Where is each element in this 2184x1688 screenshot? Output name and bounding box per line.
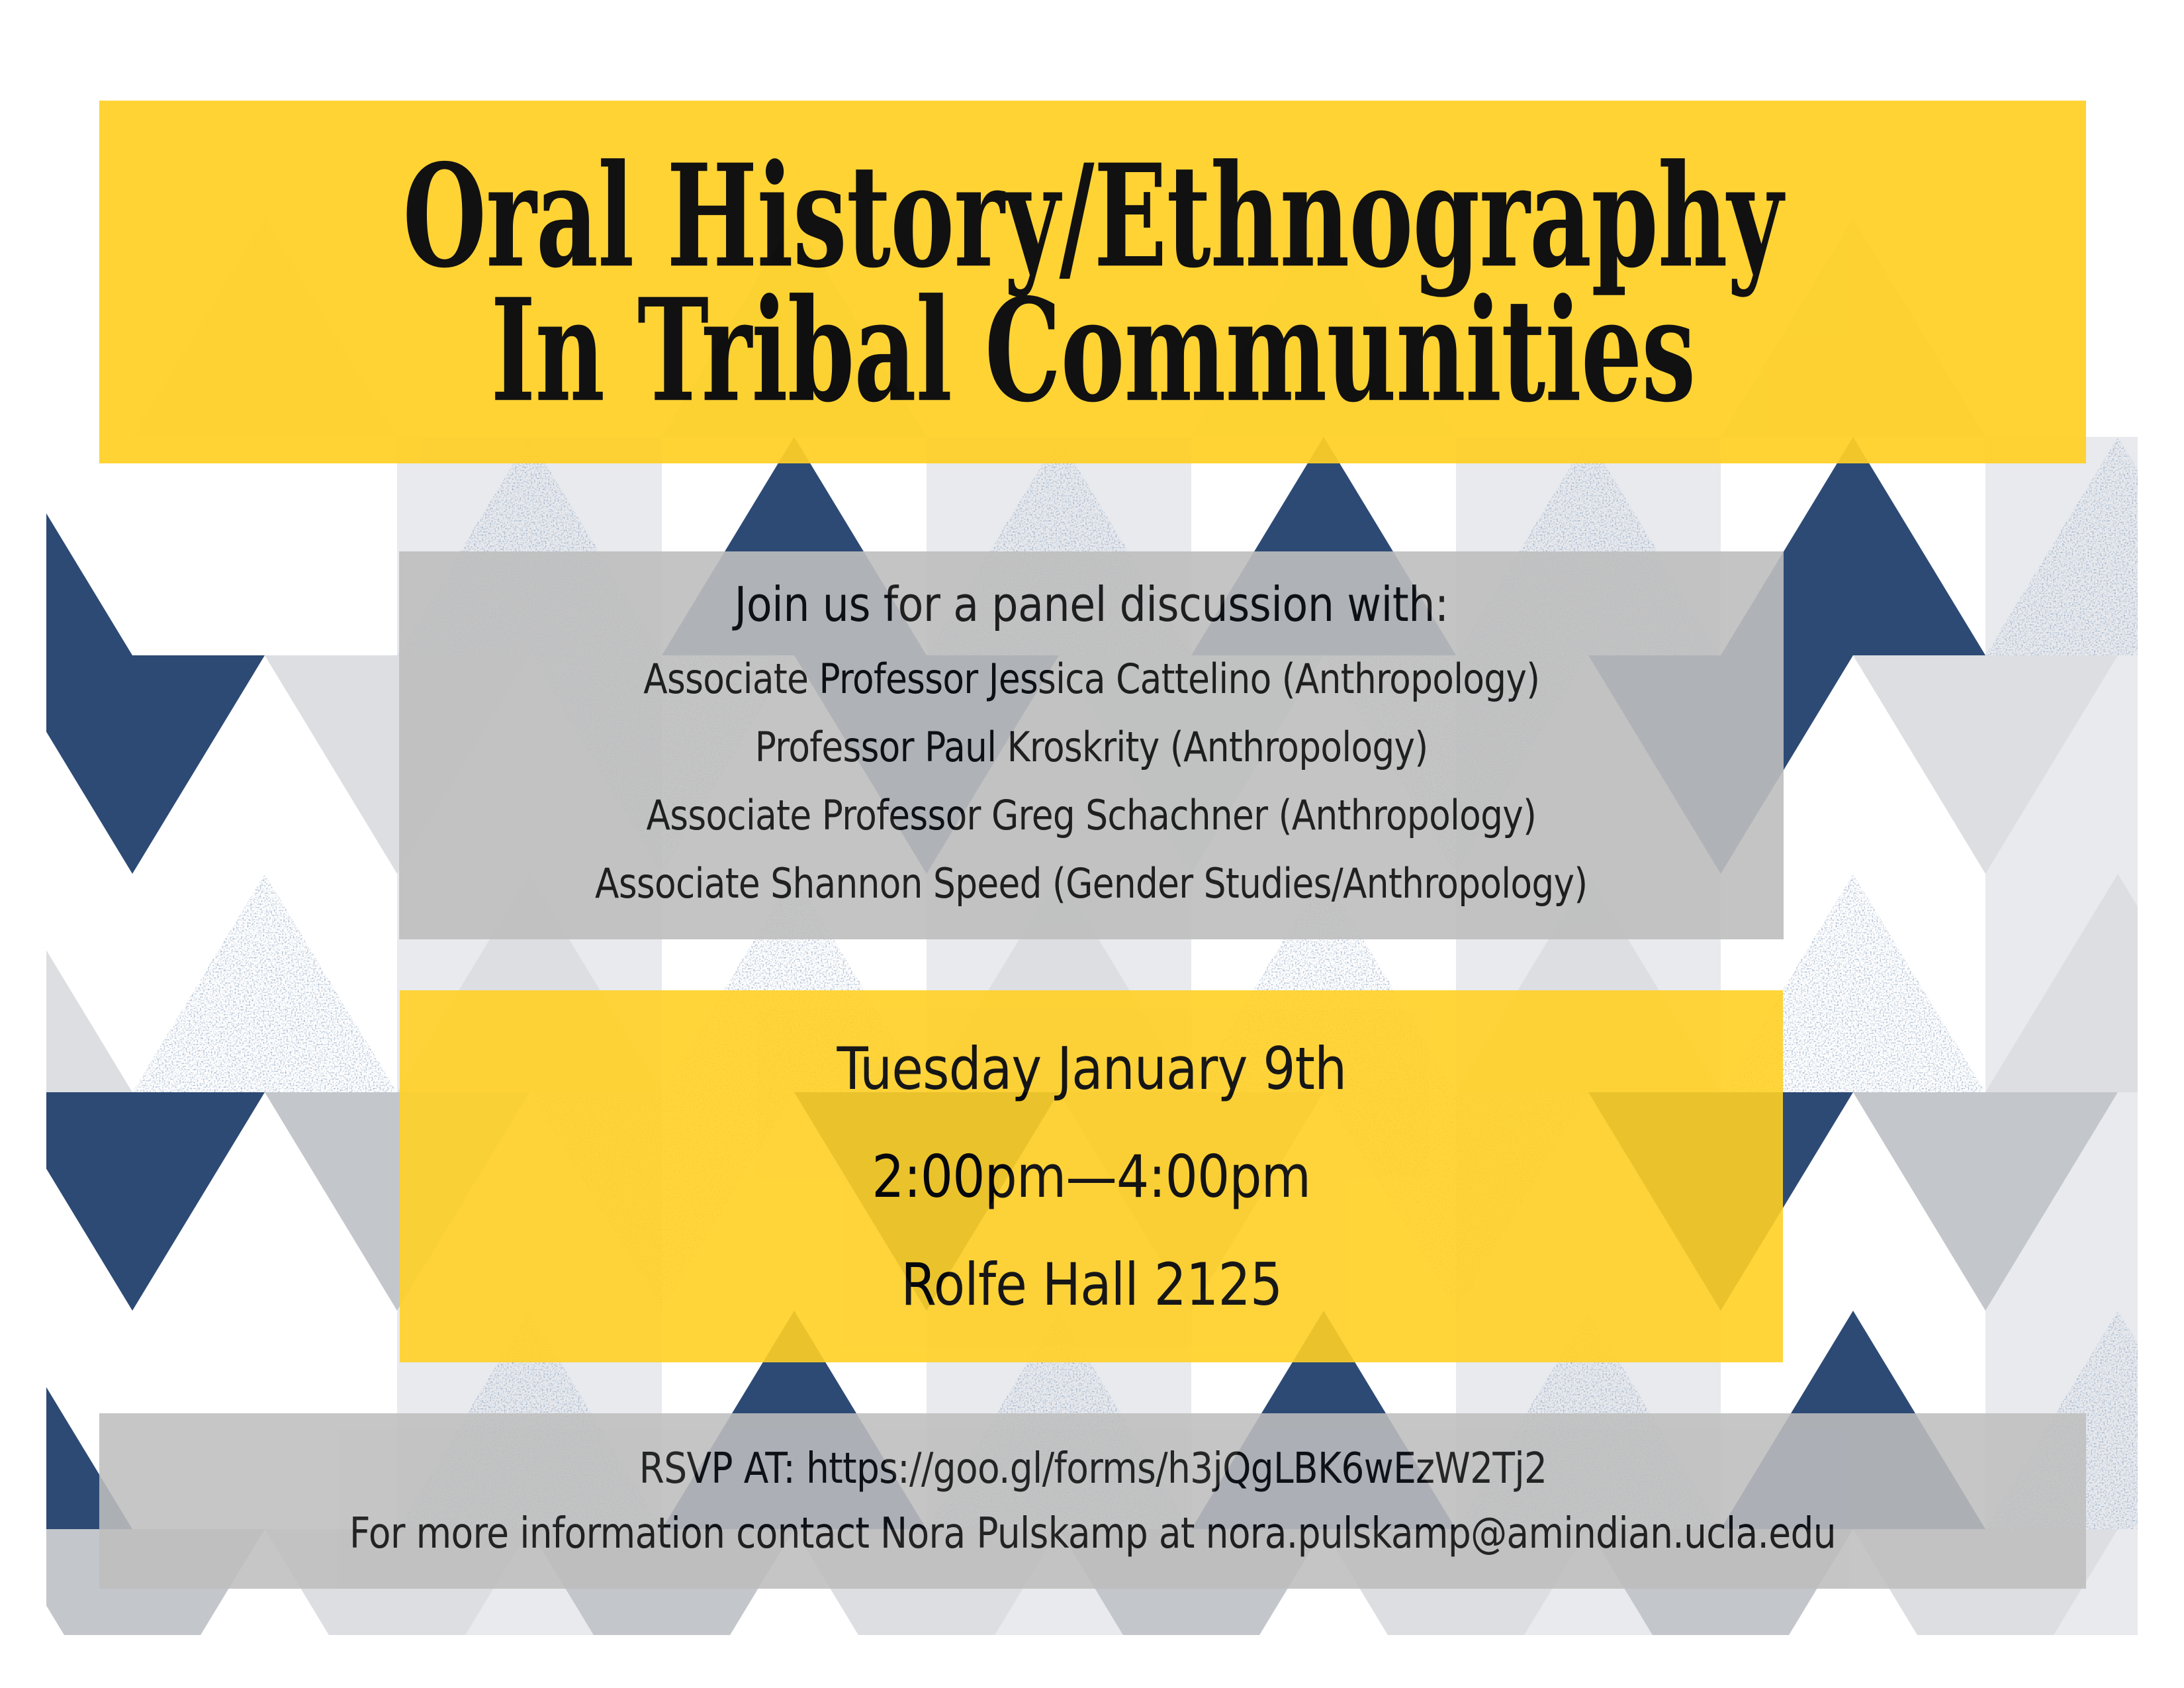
poster-canvas: Oral History/Ethnography In Tribal Commu… bbox=[0, 0, 2184, 1688]
rsvp-link-line[interactable]: RSVP AT: https://goo.gl/forms/h3jQgLBK6w… bbox=[639, 1444, 1547, 1493]
footer-panel: RSVP AT: https://goo.gl/forms/h3jQgLBK6w… bbox=[99, 1413, 2086, 1589]
poster-title-line-2: In Tribal Communities bbox=[490, 269, 1695, 434]
speakers-panel: Join us for a panel discussion with: Ass… bbox=[399, 551, 1784, 939]
speaker-list-item: Professor Paul Kroskrity (Anthropology) bbox=[755, 723, 1428, 771]
speaker-list-item: Associate Shannon Speed (Gender Studies/… bbox=[595, 859, 1587, 908]
event-time: 2:00pm—4:00pm bbox=[872, 1143, 1311, 1211]
speaker-list-item: Associate Professor Greg Schachner (Anth… bbox=[647, 791, 1537, 839]
event-details-panel: Tuesday January 9th 2:00pm—4:00pm Rolfe … bbox=[400, 990, 1783, 1362]
speakers-panel-heading: Join us for a panel discussion with: bbox=[734, 577, 1448, 632]
contact-info-line[interactable]: For more information contact Nora Pulska… bbox=[349, 1509, 1836, 1558]
event-location: Rolfe Hall 2125 bbox=[901, 1250, 1282, 1319]
event-date: Tuesday January 9th bbox=[837, 1035, 1346, 1103]
header-band: Oral History/Ethnography In Tribal Commu… bbox=[99, 101, 2086, 463]
speaker-list-item: Associate Professor Jessica Cattelino (A… bbox=[643, 655, 1539, 703]
